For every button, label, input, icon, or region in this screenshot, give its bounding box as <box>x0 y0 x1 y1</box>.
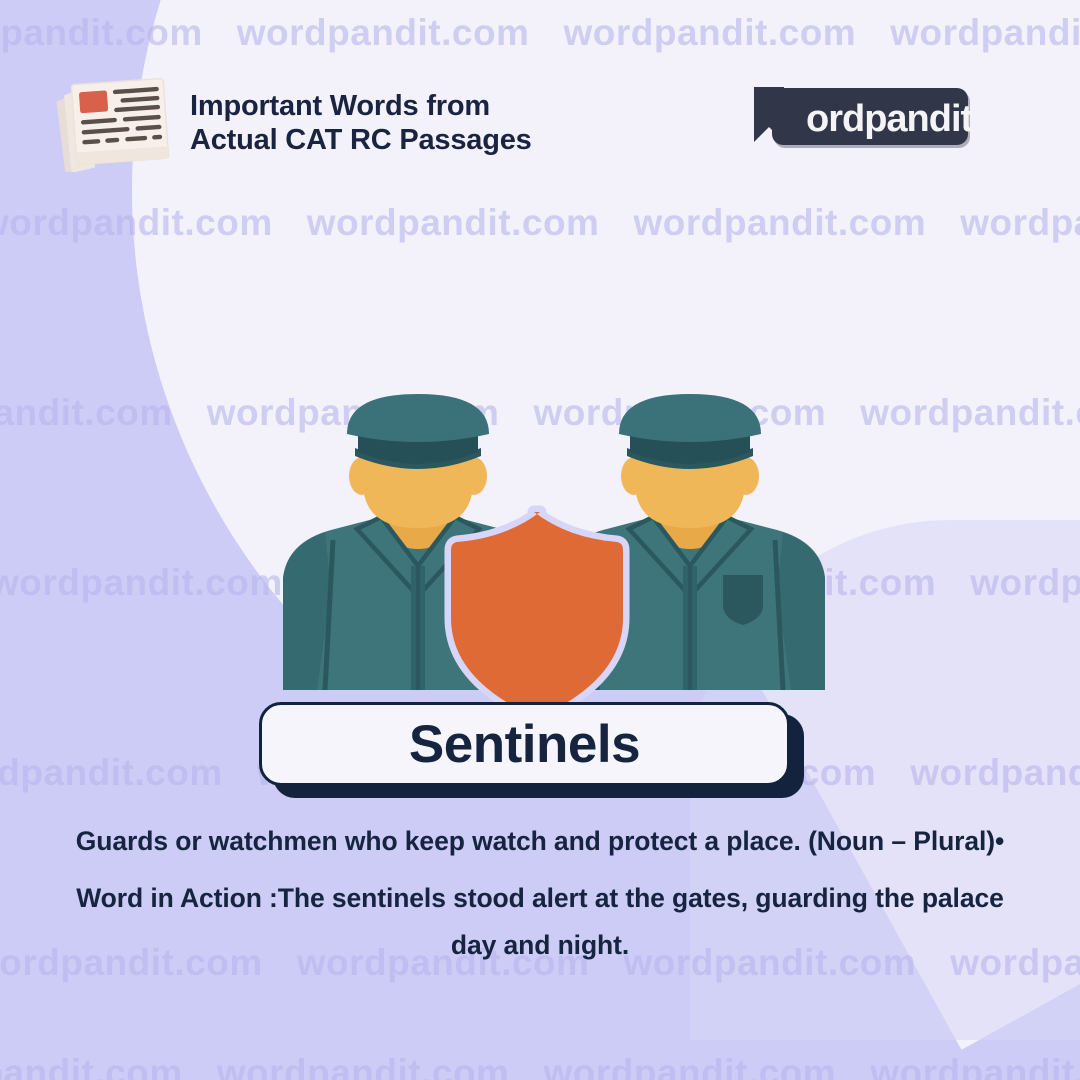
shield-icon <box>451 512 623 718</box>
poster-header: Important Words from Actual CAT RC Passa… <box>0 0 1080 180</box>
word-term: Sentinels <box>409 714 640 775</box>
page-title: Important Words from Actual CAT RC Passa… <box>190 90 532 157</box>
word-definition: Guards or watchmen who keep watch and pr… <box>62 818 1018 865</box>
word-details: Guards or watchmen who keep watch and pr… <box>62 818 1018 969</box>
word-example-sentence: The sentinels stood alert at the gates, … <box>278 883 1004 960</box>
svg-text:ordpandit: ordpandit <box>806 98 972 140</box>
word-card: Sentinels <box>259 702 804 798</box>
page-title-line2: Actual CAT RC Passages <box>190 124 532 158</box>
sentinels-illustration <box>255 390 825 720</box>
wordpandit-logo[interactable]: ordpandit <box>748 84 972 152</box>
poster-canvas: wordpandit.comwordpandit.comwordpandit.c… <box>0 0 1080 1080</box>
page-title-line1: Important Words from <box>190 90 532 124</box>
word-example-label: Word in Action : <box>76 883 278 913</box>
word-example: Word in Action :The sentinels stood aler… <box>62 875 1018 969</box>
word-card-body: Sentinels <box>259 702 790 786</box>
newspaper-icon <box>52 72 174 172</box>
